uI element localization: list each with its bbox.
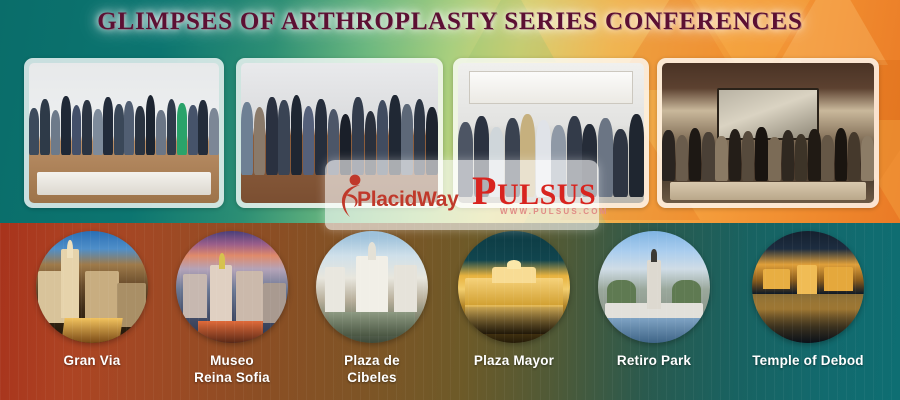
conference-photo-1 — [24, 58, 224, 208]
photo-table — [670, 182, 865, 200]
city-item-plaza-de-cibeles[interactable]: Plaza deCibeles — [316, 231, 428, 386]
photo-image — [662, 63, 874, 203]
placidway-logo[interactable]: PlacidWay — [333, 169, 468, 221]
city-label: Plaza deCibeles — [316, 352, 428, 386]
pulsus-url: WWW.PULSUS.COM — [500, 207, 609, 216]
city-item-plaza-mayor[interactable]: Plaza Mayor — [458, 231, 570, 369]
banner-title: GLIMPSES OF ARTHROPLASTY SERIES CONFEREN… — [0, 8, 900, 36]
city-label: Plaza Mayor — [458, 352, 570, 369]
pulsus-initial: P — [472, 168, 497, 213]
museo-reina-sofia-image — [176, 231, 288, 343]
plaza-de-cibeles-image — [316, 231, 428, 343]
placidway-wordmark: PlacidWay — [357, 188, 459, 212]
city-label: Temple of Debod — [752, 352, 864, 369]
conference-photo-4 — [657, 58, 879, 208]
city-item-gran-via[interactable]: Gran Via — [36, 231, 148, 369]
logo-overlay-plate: PlacidWay PULSUS WWW.PULSUS.COM — [325, 160, 599, 230]
city-item-museo-reina-sofia[interactable]: MuseoReina Sofia — [176, 231, 288, 386]
photo-image — [29, 63, 219, 203]
city-label: Gran Via — [36, 352, 148, 369]
city-item-retiro-park[interactable]: Retiro Park — [598, 231, 710, 369]
photo-table — [37, 172, 212, 194]
city-item-temple-of-debod[interactable]: Temple of Debod — [752, 231, 864, 369]
photo-crowd — [662, 122, 874, 181]
pulsus-logo[interactable]: PULSUS WWW.PULSUS.COM — [472, 167, 592, 223]
banner-bottom-section: Gran Via MuseoReina Sofia — [0, 223, 900, 400]
photo-crowd — [29, 91, 219, 155]
city-label: Retiro Park — [598, 352, 710, 369]
retiro-park-image — [598, 231, 710, 343]
pulsus-wordmark: PULSUS — [472, 171, 596, 212]
city-label: MuseoReina Sofia — [176, 352, 288, 386]
photo-poster-board — [469, 71, 633, 104]
plaza-mayor-image — [458, 231, 570, 343]
conference-banner: GLIMPSES OF ARTHROPLASTY SERIES CONFEREN… — [0, 0, 900, 400]
gran-via-image — [36, 231, 148, 343]
temple-of-debod-image — [752, 231, 864, 343]
